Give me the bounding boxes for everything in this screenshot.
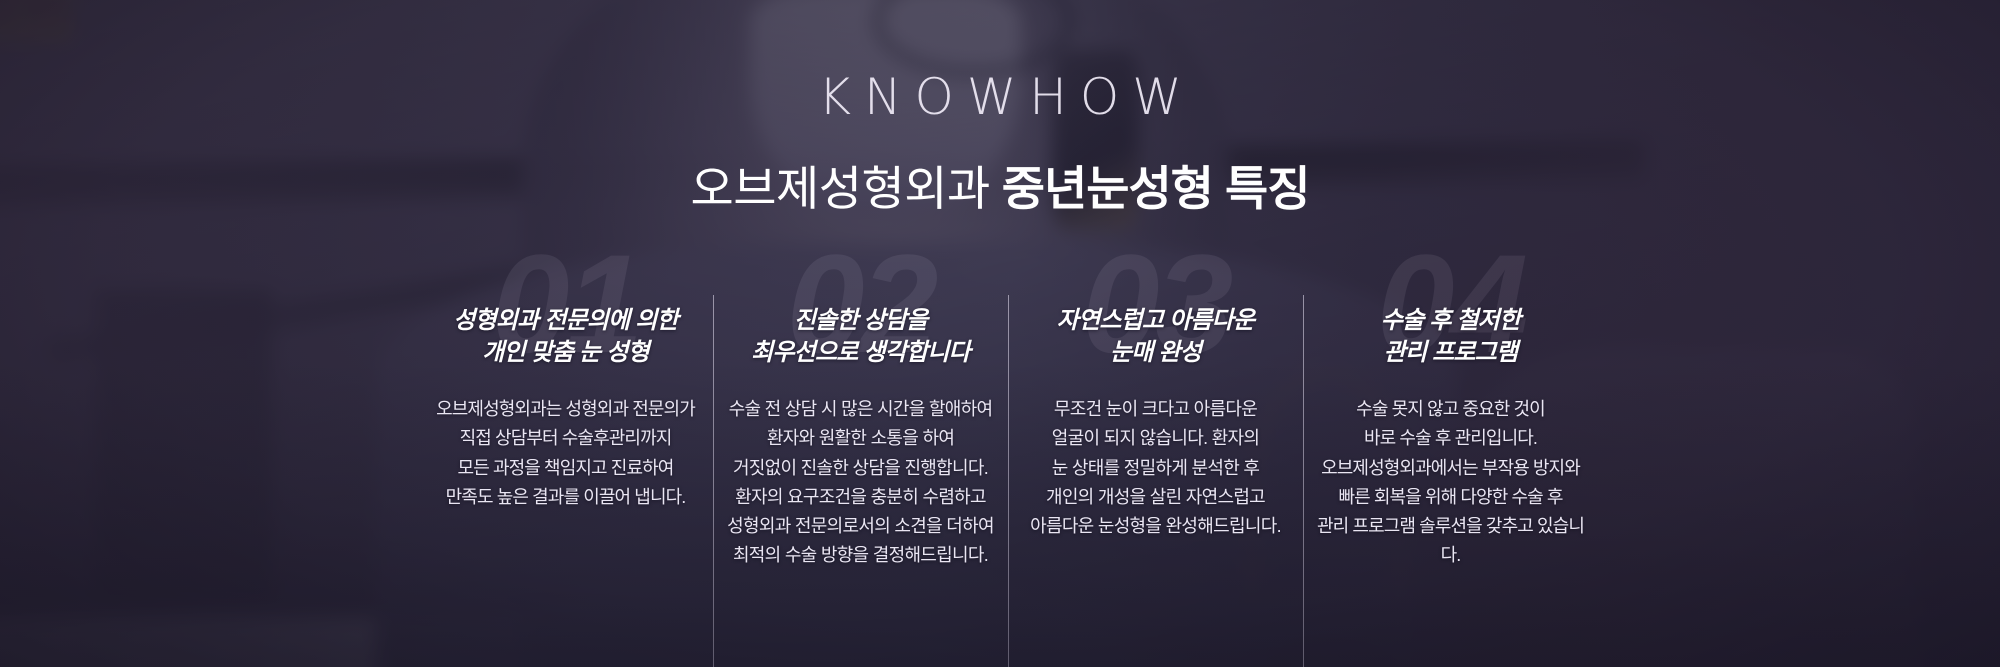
feature-body-04: 수술 못지 않고 중요한 것이 바로 수술 후 관리입니다. 오브제성형외과에서…: [1317, 369, 1584, 570]
hero-eyebrow: KNOWHOW: [0, 72, 2000, 122]
feature-title-line-2: 눈매 완성: [1110, 339, 1201, 366]
body-line: 환자와 원활한 소통을 하여: [727, 424, 994, 453]
body-line: 환자의 요구조건을 충분히 수렴하고: [727, 483, 994, 512]
feature-title-line-1: 성형외과 전문의에 의한: [453, 307, 678, 334]
body-line: 최적의 수술 방향을 결정해드립니다.: [727, 541, 994, 570]
body-line: 오브제성형외과는 성형외과 전문의가: [432, 395, 699, 424]
body-line: 만족도 높은 결과를 이끌어 냅니다.: [432, 483, 699, 512]
body-line: 아름다운 눈성형을 완성해드립니다.: [1022, 512, 1289, 541]
feature-title-03: 자연스럽고 아름다운 눈매 완성: [1022, 280, 1289, 369]
feature-body-03: 무조건 눈이 크다고 아름다운 얼굴이 되지 않습니다. 환자의 눈 상태를 정…: [1022, 369, 1289, 541]
body-line: 수술 못지 않고 중요한 것이: [1317, 395, 1584, 424]
knowhow-hero-banner: KNOWHOW 오브제성형외과중년눈성형 특징 01 성형외과 전문의에 의한 …: [0, 0, 2000, 667]
body-line: 빠른 회복을 위해 다양한 수술 후: [1317, 483, 1584, 512]
body-line: 개인의 개성을 살린 자연스럽고: [1022, 483, 1289, 512]
body-line: 무조건 눈이 크다고 아름다운: [1022, 395, 1289, 424]
body-line: 수술 전 상담 시 많은 시간을 할애하여: [727, 395, 994, 424]
feature-title-line-2: 관리 프로그램: [1384, 339, 1518, 366]
page-title: 오브제성형외과중년눈성형 특징: [0, 161, 2000, 216]
feature-column-04: 04 수술 후 철저한 관리 프로그램 수술 못지 않고 중요한 것이 바로 수…: [1303, 280, 1598, 667]
feature-title-04: 수술 후 철저한 관리 프로그램: [1317, 280, 1584, 369]
feature-title-line-1: 수술 후 철저한: [1381, 307, 1520, 334]
body-line: 바로 수술 후 관리입니다.: [1317, 424, 1584, 453]
feature-title-01: 성형외과 전문의에 의한 개인 맞춤 눈 성형: [432, 280, 699, 369]
headline-emphasis: 중년눈성형 특징: [1002, 162, 1310, 215]
body-line: 성형외과 전문의로서의 소견을 더하여: [727, 512, 994, 541]
feature-title-line-2: 개인 맞춤 눈 성형: [482, 339, 649, 366]
body-line: 얼굴이 되지 않습니다. 환자의: [1022, 424, 1289, 453]
feature-columns: 01 성형외과 전문의에 의한 개인 맞춤 눈 성형 오브제성형외과는 성형외과…: [418, 280, 1598, 667]
feature-title-line-1: 진솔한 상담을: [794, 307, 928, 334]
body-line: 거짓없이 진솔한 상담을 진행합니다.: [727, 454, 994, 483]
headline-clinic-name: 오브제성형외과: [691, 162, 990, 215]
body-line: 오브제성형외과에서는 부작용 방지와: [1317, 454, 1584, 483]
feature-body-01: 오브제성형외과는 성형외과 전문의가 직접 상담부터 수술후관리까지 모든 과정…: [432, 369, 699, 512]
hero-content: KNOWHOW 오브제성형외과중년눈성형 특징 01 성형외과 전문의에 의한 …: [0, 0, 2000, 667]
body-line: 눈 상태를 정밀하게 분석한 후: [1022, 454, 1289, 483]
body-line: 관리 프로그램 솔루션을 갖추고 있습니다.: [1317, 512, 1584, 570]
body-line: 직접 상담부터 수술후관리까지: [432, 424, 699, 453]
feature-body-02: 수술 전 상담 시 많은 시간을 할애하여 환자와 원활한 소통을 하여 거짓없…: [727, 369, 994, 570]
feature-title-line-2: 최우선으로 생각합니다: [751, 339, 970, 366]
feature-column-02: 02 진솔한 상담을 최우선으로 생각합니다 수술 전 상담 시 많은 시간을 …: [713, 280, 1008, 667]
feature-title-line-1: 자연스럽고 아름다운: [1057, 307, 1254, 334]
feature-column-03: 03 자연스럽고 아름다운 눈매 완성 무조건 눈이 크다고 아름다운 얼굴이 …: [1008, 280, 1303, 667]
body-line: 모든 과정을 책임지고 진료하여: [432, 454, 699, 483]
feature-title-02: 진솔한 상담을 최우선으로 생각합니다: [727, 280, 994, 369]
feature-column-01: 01 성형외과 전문의에 의한 개인 맞춤 눈 성형 오브제성형외과는 성형외과…: [418, 280, 713, 667]
